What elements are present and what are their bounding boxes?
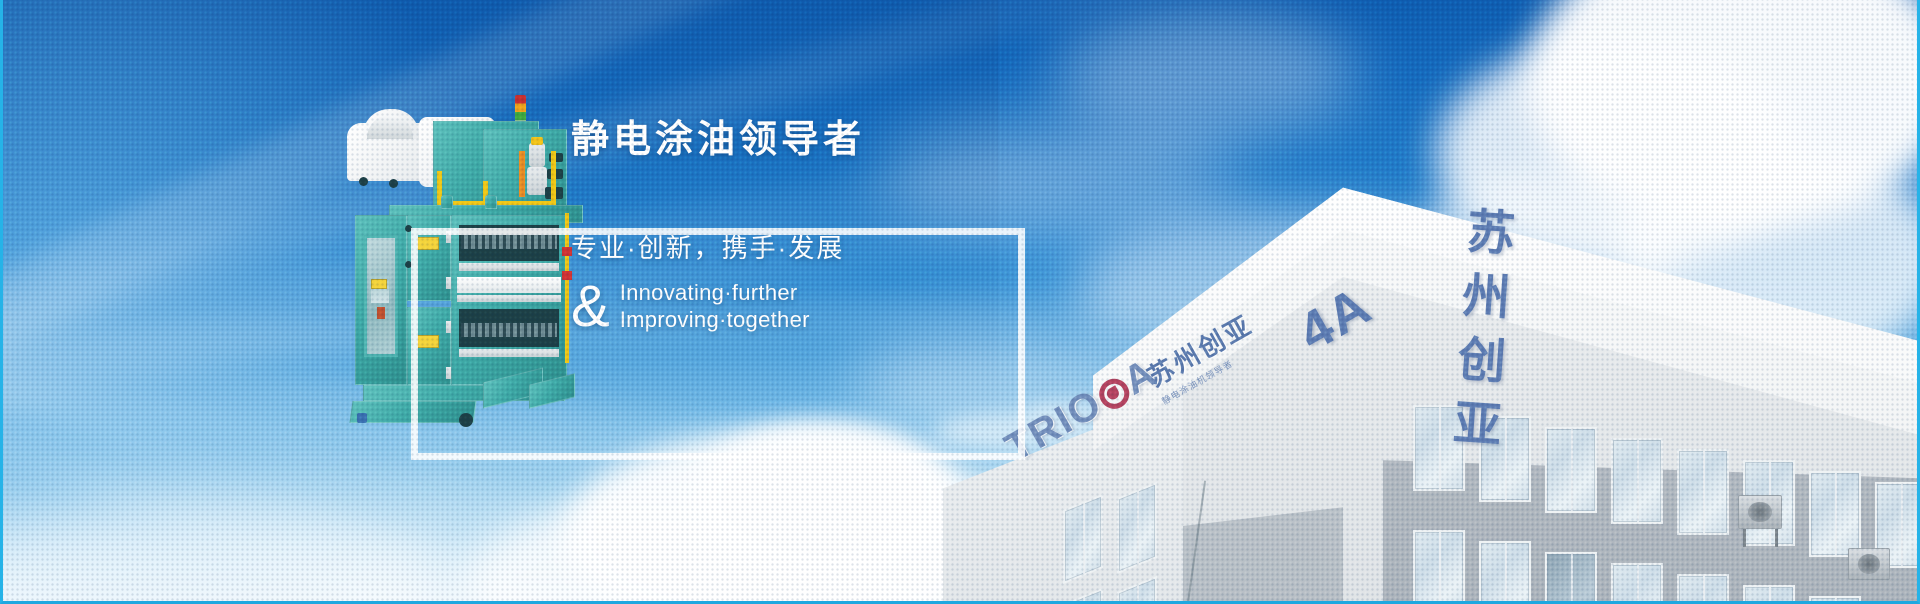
vertical-char: 州 [1461, 272, 1512, 323]
ac-unit-icon [1848, 548, 1890, 580]
slogan-line-2: Improving·together [620, 306, 810, 334]
vertical-char: 苏 [1465, 209, 1516, 260]
banner-headline: 静电涂油领导者 [571, 120, 1041, 162]
vertical-char: 创 [1456, 336, 1507, 387]
ampersand-glyph: & [571, 282, 610, 331]
vertical-char: 亚 [1452, 400, 1503, 451]
banner-copy: 静电涂油领导者 专业·创新，携手·发展 & Innovating·further… [571, 120, 1041, 334]
slogan-line-1: Innovating·further [620, 279, 810, 307]
banner-slogan-en: Innovating·further Improving·together [620, 279, 810, 334]
ac-unit-icon [1738, 495, 1782, 529]
factory-building-photo: TRIOA 苏州创亚 静电涂油机领导者 4A 苏 州 创 亚 [943, 150, 1920, 604]
banner-slogan-row: & Innovating·further Improving·together [571, 279, 1041, 334]
hero-banner: TRIOA 苏州创亚 静电涂油机领导者 4A 苏 州 创 亚 [0, 0, 1920, 604]
banner-subline: 专业·创新，携手·发展 [571, 228, 1041, 265]
